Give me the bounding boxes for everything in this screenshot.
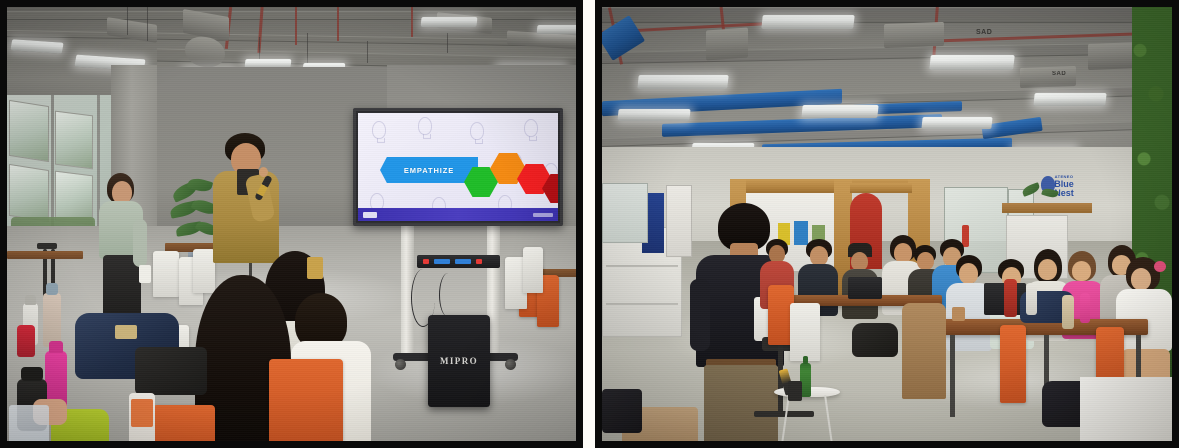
table-leg [950, 335, 955, 417]
soundbar-led [434, 259, 450, 264]
ceiling-light [929, 55, 1015, 70]
bottle-cap [46, 283, 58, 295]
photo-collage: SAD [0, 0, 1179, 448]
mipro-portable-speaker: MIPRO [428, 315, 490, 407]
hair-clip [307, 257, 323, 279]
shelf [606, 303, 678, 305]
water-bottle-white [1026, 283, 1037, 315]
dark-bag [135, 347, 207, 395]
window-left [602, 183, 648, 243]
chair-orange [1000, 325, 1026, 403]
hvac-duct [706, 28, 748, 61]
empathize-label: EMPATHIZE [404, 166, 454, 175]
water-bottle-tan [43, 293, 61, 347]
bottle-cap [25, 295, 36, 305]
chair-white [523, 247, 543, 293]
laptop [848, 277, 882, 299]
ceiling-pipe [295, 7, 297, 45]
rear-table [7, 251, 83, 259]
soundbar-led [423, 259, 429, 264]
counter-top [1002, 203, 1092, 213]
slide-logo-right-icon [533, 213, 553, 217]
light-hanger [147, 7, 148, 41]
drink-red [17, 325, 35, 357]
light-hanger [367, 41, 368, 63]
hair-flower [1154, 261, 1166, 272]
slide-logo-left-icon [363, 212, 377, 218]
bottle-label [131, 399, 153, 427]
bag-black [852, 323, 898, 357]
window-pane [9, 164, 49, 222]
video-conference-bar [417, 255, 500, 268]
design-thinking-hexagons: EMPATHIZE [380, 151, 555, 197]
hvac-duct [1020, 66, 1076, 88]
chair-orange-front [153, 405, 215, 441]
photo-panel-left: SAD [0, 0, 583, 448]
slide-content: EMPATHIZE [358, 113, 558, 221]
person-head [1072, 261, 1091, 281]
ceiling-light [420, 17, 477, 27]
chair-white [790, 303, 820, 361]
person-head [810, 246, 828, 266]
water-bottle-red [1004, 279, 1017, 317]
ceiling-light [537, 25, 576, 34]
lightbulb-watermark-icon [418, 117, 432, 135]
person-head [1131, 268, 1151, 290]
ceiling-light [637, 75, 728, 89]
mipro-brand-label: MIPRO [440, 356, 478, 366]
white-surface-foreground [1080, 377, 1172, 441]
ceiling-sign-sad-2: SAD [1052, 71, 1066, 77]
person-arm [133, 219, 147, 267]
ceiling-sign-sad-1: SAD [976, 29, 992, 36]
window-pane [9, 100, 49, 162]
ceiling-light [617, 109, 690, 121]
person-head [1038, 259, 1057, 280]
water-bottle-tan [1062, 295, 1074, 329]
backpack-patch [115, 325, 137, 339]
person-head [959, 263, 978, 284]
stand-caster [505, 359, 516, 370]
ceiling-light [921, 117, 992, 129]
ceiling-beam [602, 7, 1172, 23]
photo-panel-right: SAD SAD [595, 0, 1179, 448]
ceiling-light [1033, 93, 1106, 106]
av-cable [439, 273, 457, 317]
poster-white [666, 185, 692, 257]
bag-foreground [602, 389, 642, 433]
bottle-cap [21, 367, 43, 381]
empathize-banner: EMPATHIZE [380, 157, 478, 183]
slide-footer-bar [358, 208, 558, 221]
lightbulb-watermark-icon [524, 119, 538, 137]
presentation-screen: EMPATHIZE [353, 108, 563, 226]
window-pane [55, 111, 93, 170]
lightbulb-watermark-icon [470, 122, 484, 140]
blue-nest-brand-small: ATENEO [1055, 174, 1074, 179]
light-hanger [127, 7, 128, 35]
ceiling-light [801, 105, 878, 118]
held-phone [139, 265, 151, 283]
ceiling-pipe [411, 7, 413, 37]
stand-caster [395, 359, 406, 370]
light-hanger [447, 33, 448, 53]
lightbulb-watermark-icon [372, 121, 386, 139]
blue-nest-brand-line1: Blue [1054, 180, 1074, 188]
wood-frame-beam [850, 183, 912, 193]
left-photo-content: SAD [7, 7, 576, 441]
shelf [606, 265, 678, 267]
ceiling-pipe [337, 7, 339, 41]
chair-orange-front [269, 359, 343, 441]
person-trousers [704, 365, 778, 441]
light-hanger [307, 33, 308, 63]
chair-wooden [902, 303, 946, 399]
ceiling-light [761, 15, 854, 29]
bottle-cap [49, 341, 63, 353]
person-arm [690, 279, 710, 351]
hvac-duct [884, 22, 944, 48]
dark-cup [788, 381, 802, 401]
water-bottle-pink [1080, 293, 1090, 323]
chair-white [153, 251, 179, 297]
right-photo-content: SAD SAD [602, 7, 1172, 441]
soundbar-led [476, 259, 482, 264]
plastic-bag [9, 405, 49, 441]
bar-stool [37, 243, 57, 249]
soundbar-led [455, 259, 471, 264]
coffee-cup [952, 307, 965, 321]
